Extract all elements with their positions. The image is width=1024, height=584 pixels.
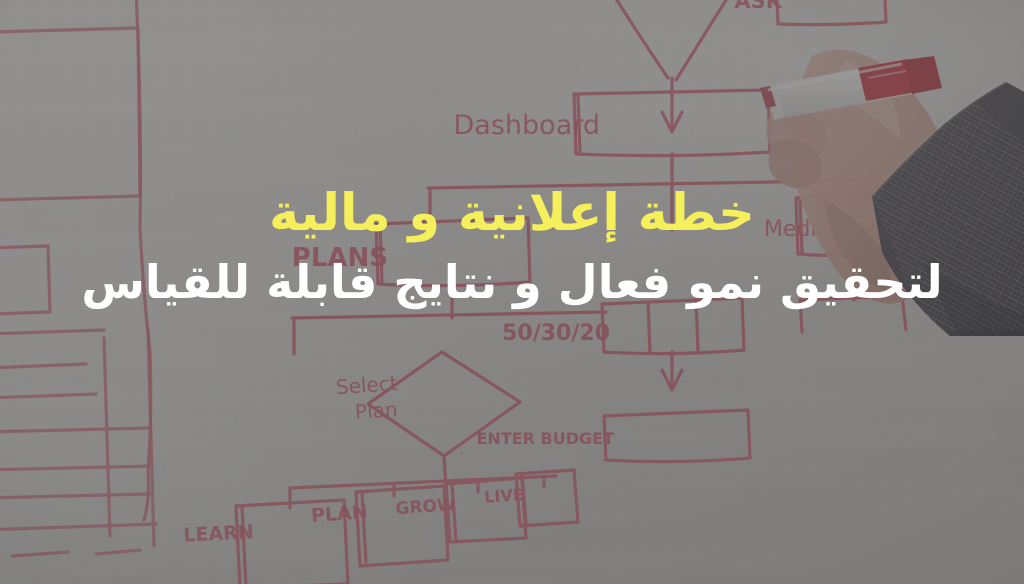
- page-title: خطة إعلانية و مالية: [24, 186, 1000, 241]
- page-subtitle: لتحقيق نمو فعال و نتايج قابلة للقياس: [24, 257, 1000, 308]
- hero-banner: ASK Dashboard Media PLANS 50/30/20 Selec…: [0, 0, 1024, 584]
- headline-block: خطة إعلانية و مالية لتحقيق نمو فعال و نت…: [0, 186, 1024, 308]
